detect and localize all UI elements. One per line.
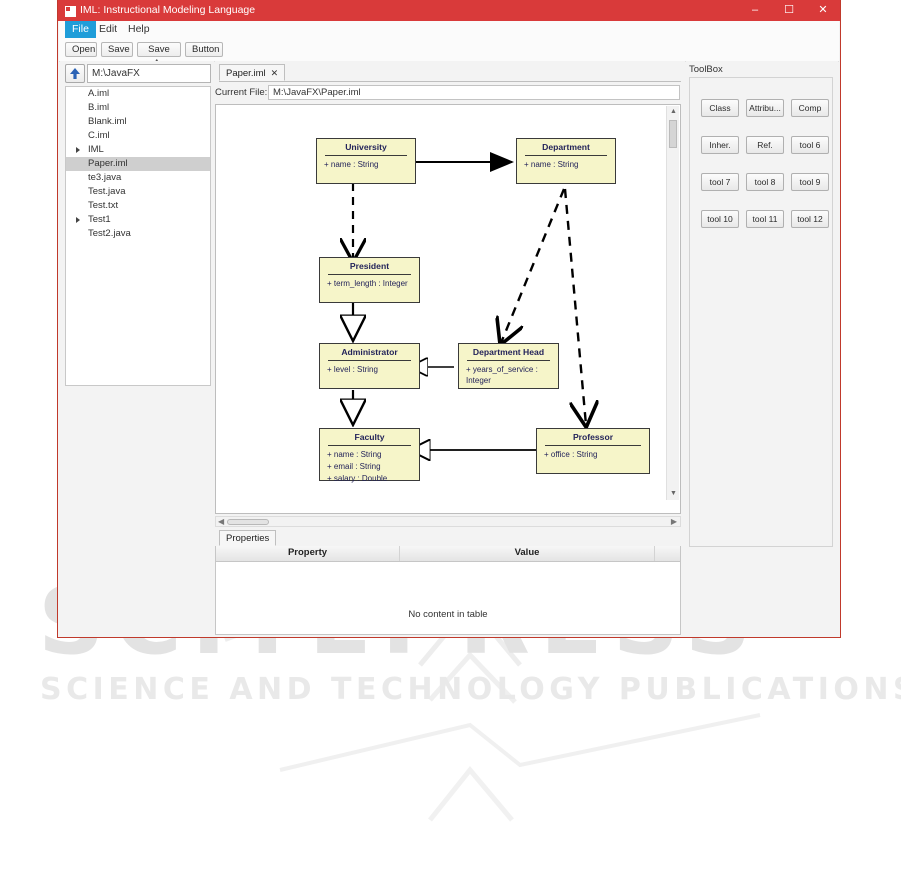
uml-attributes: + name : String + email : String + salar… <box>320 446 419 485</box>
directory-path-input[interactable]: M:\JavaFX <box>87 64 211 83</box>
list-item[interactable]: Test.java <box>66 185 210 199</box>
relation-dependency-department-professor <box>565 189 586 425</box>
uml-class-president[interactable]: President + term_length : Integer <box>319 257 420 303</box>
uml-class-name: University <box>317 139 415 155</box>
editor-tab-strip: Paper.iml✕ <box>219 64 681 82</box>
uml-attributes: + years_of_service : Integer <box>459 361 558 387</box>
file-name: Paper.iml <box>88 158 128 169</box>
file-name: Test.java <box>88 186 126 197</box>
tool-button-10[interactable]: tool 10 <box>701 210 739 228</box>
uml-class-name: Department <box>517 139 615 155</box>
open-button[interactable]: Open <box>65 42 97 57</box>
uml-attribute: + name : String <box>524 159 615 171</box>
save-as-button[interactable]: Save As <box>137 42 181 57</box>
uml-class-name: Professor <box>537 429 649 445</box>
app-logo-icon <box>65 6 76 17</box>
tool-button-comp[interactable]: Comp <box>791 99 829 117</box>
list-item[interactable]: te3.java <box>66 171 210 185</box>
canvas-vertical-scrollbar[interactable]: ▲ ▼ <box>666 106 679 500</box>
menu-item-help[interactable]: Help <box>121 21 157 38</box>
uml-attribute: + email : String <box>327 461 419 473</box>
file-name: B.iml <box>88 102 109 113</box>
tab-label: Paper.iml <box>226 68 266 79</box>
file-name: Test1 <box>88 214 111 225</box>
column-header-spacer <box>655 546 680 561</box>
navigate-up-button[interactable] <box>65 64 85 83</box>
uml-class-faculty[interactable]: Faculty + name : String + email : String… <box>319 428 420 481</box>
tool-button-6[interactable]: tool 6 <box>791 136 829 154</box>
tool-button-class[interactable]: Class <box>701 99 739 117</box>
tool-button-ref[interactable]: Ref. <box>746 136 784 154</box>
file-name: C.iml <box>88 130 110 141</box>
list-item[interactable]: Test2.java <box>66 227 210 241</box>
list-item-folder[interactable]: IML <box>66 143 210 157</box>
uml-attributes: + name : String <box>517 156 615 171</box>
close-button[interactable]: ✕ <box>806 0 840 21</box>
menu-item-edit[interactable]: Edit <box>92 21 124 38</box>
uml-class-name: Administrator <box>320 344 419 360</box>
uml-attribute: + name : String <box>327 449 419 461</box>
file-list[interactable]: A.iml B.iml Blank.iml C.iml IML Paper.im… <box>65 86 211 386</box>
uml-attribute: + salary : Double <box>327 473 419 485</box>
tool-button-12[interactable]: tool 12 <box>791 210 829 228</box>
list-item-folder[interactable]: Test1 <box>66 213 210 227</box>
maximize-button[interactable]: ☐ <box>772 0 806 21</box>
watermark-secondary-text: SCIENCE AND TECHNOLOGY PUBLICATIONS <box>40 672 901 707</box>
up-arrow-icon <box>66 65 84 82</box>
diagram-canvas[interactable]: Department --> President --> Administrat… <box>215 104 681 514</box>
uml-attribute: + term_length : Integer <box>327 278 419 290</box>
toolbox-button-grid: Class Attribu... Comp Inher. Ref. tool 6… <box>689 77 833 547</box>
current-file-label: Current File: <box>215 87 267 98</box>
list-item[interactable]: B.iml <box>66 101 210 115</box>
file-name: te3.java <box>88 172 121 183</box>
scroll-right-icon[interactable]: ▶ <box>671 517 677 527</box>
list-item[interactable]: A.iml <box>66 87 210 101</box>
uml-attributes: + level : String <box>320 361 419 376</box>
uml-class-administrator[interactable]: Administrator + level : String <box>319 343 420 389</box>
list-item[interactable]: C.iml <box>66 129 210 143</box>
current-file-input[interactable]: M:\JavaFX\Paper.iml <box>268 85 680 100</box>
scroll-left-icon[interactable]: ◀ <box>218 517 224 527</box>
file-name: IML <box>88 144 104 155</box>
tool-button-8[interactable]: tool 8 <box>746 173 784 191</box>
table-empty-message: No content in table <box>216 609 680 620</box>
relation-dependency-department-departmenthead <box>501 189 564 343</box>
tool-button-attribute[interactable]: Attribu... <box>746 99 784 117</box>
properties-table[interactable]: Property Value No content in table <box>215 546 681 635</box>
toolbox-panel: ToolBox Class Attribu... Comp Inher. Ref… <box>686 61 838 635</box>
application-window: IML: Instructional Modeling Language – ☐… <box>57 0 841 638</box>
expand-triangle-icon[interactable] <box>76 217 80 223</box>
tab-properties[interactable]: Properties <box>219 530 276 546</box>
scroll-up-icon[interactable]: ▲ <box>670 108 677 116</box>
uml-class-name: Department Head <box>459 344 558 360</box>
title-bar: IML: Instructional Modeling Language – ☐… <box>58 0 840 21</box>
uml-attribute: + years_of_service : Integer <box>466 364 558 387</box>
uml-class-university[interactable]: University + name : String <box>316 138 416 184</box>
generic-button[interactable]: Button <box>185 42 223 57</box>
scroll-down-icon[interactable]: ▼ <box>670 490 677 498</box>
scroll-thumb[interactable] <box>227 519 269 525</box>
uml-class-department[interactable]: Department + name : String <box>516 138 616 184</box>
file-name: Test2.java <box>88 228 131 239</box>
file-name: Blank.iml <box>88 116 127 127</box>
uml-attributes: + term_length : Integer <box>320 275 419 290</box>
uml-class-department-head[interactable]: Department Head + years_of_service : Int… <box>458 343 559 389</box>
uml-attributes: + name : String <box>317 156 415 171</box>
toolbar: Open Save Save As Button <box>59 38 839 62</box>
directory-bar: M:\JavaFX <box>65 64 211 83</box>
file-name: Test.txt <box>88 200 118 211</box>
uml-class-name: President <box>320 258 419 274</box>
save-button[interactable]: Save <box>101 42 133 57</box>
table-header-row: Property Value <box>216 546 680 562</box>
properties-tab-strip: Properties <box>215 530 681 547</box>
expand-triangle-icon[interactable] <box>76 147 80 153</box>
tool-button-7[interactable]: tool 7 <box>701 173 739 191</box>
uml-attribute: + level : String <box>327 364 419 376</box>
toolbox-label: ToolBox <box>689 64 723 75</box>
tool-button-inher[interactable]: Inher. <box>701 136 739 154</box>
uml-attribute: + name : String <box>324 159 415 171</box>
column-header-value[interactable]: Value <box>400 546 655 561</box>
tool-button-11[interactable]: tool 11 <box>746 210 784 228</box>
scroll-thumb[interactable] <box>669 120 677 148</box>
close-icon[interactable]: ✕ <box>271 68 279 78</box>
file-browser-panel: M:\JavaFX A.iml B.iml Blank.iml C.iml IM… <box>60 61 214 635</box>
minimize-button[interactable]: – <box>738 0 772 21</box>
uml-attributes: + office : String <box>537 446 649 461</box>
editor-panel: Paper.iml✕ Current File: M:\JavaFX\Paper… <box>215 61 685 635</box>
canvas-horizontal-scrollbar[interactable]: ◀ ▶ <box>215 516 681 527</box>
uml-class-professor[interactable]: Professor + office : String <box>536 428 650 474</box>
menu-bar: File Edit Help <box>59 21 839 39</box>
current-file-row: Current File: M:\JavaFX\Paper.iml <box>215 85 681 101</box>
file-name: A.iml <box>88 88 109 99</box>
list-item[interactable]: Test.txt <box>66 199 210 213</box>
window-title: IML: Instructional Modeling Language <box>80 4 255 16</box>
tab-paper-iml[interactable]: Paper.iml✕ <box>219 64 285 81</box>
column-header-property[interactable]: Property <box>216 546 400 561</box>
tool-button-9[interactable]: tool 9 <box>791 173 829 191</box>
uml-attribute: + office : String <box>544 449 649 461</box>
list-item[interactable]: Blank.iml <box>66 115 210 129</box>
uml-class-name: Faculty <box>320 429 419 445</box>
list-item-selected[interactable]: Paper.iml <box>66 157 210 171</box>
